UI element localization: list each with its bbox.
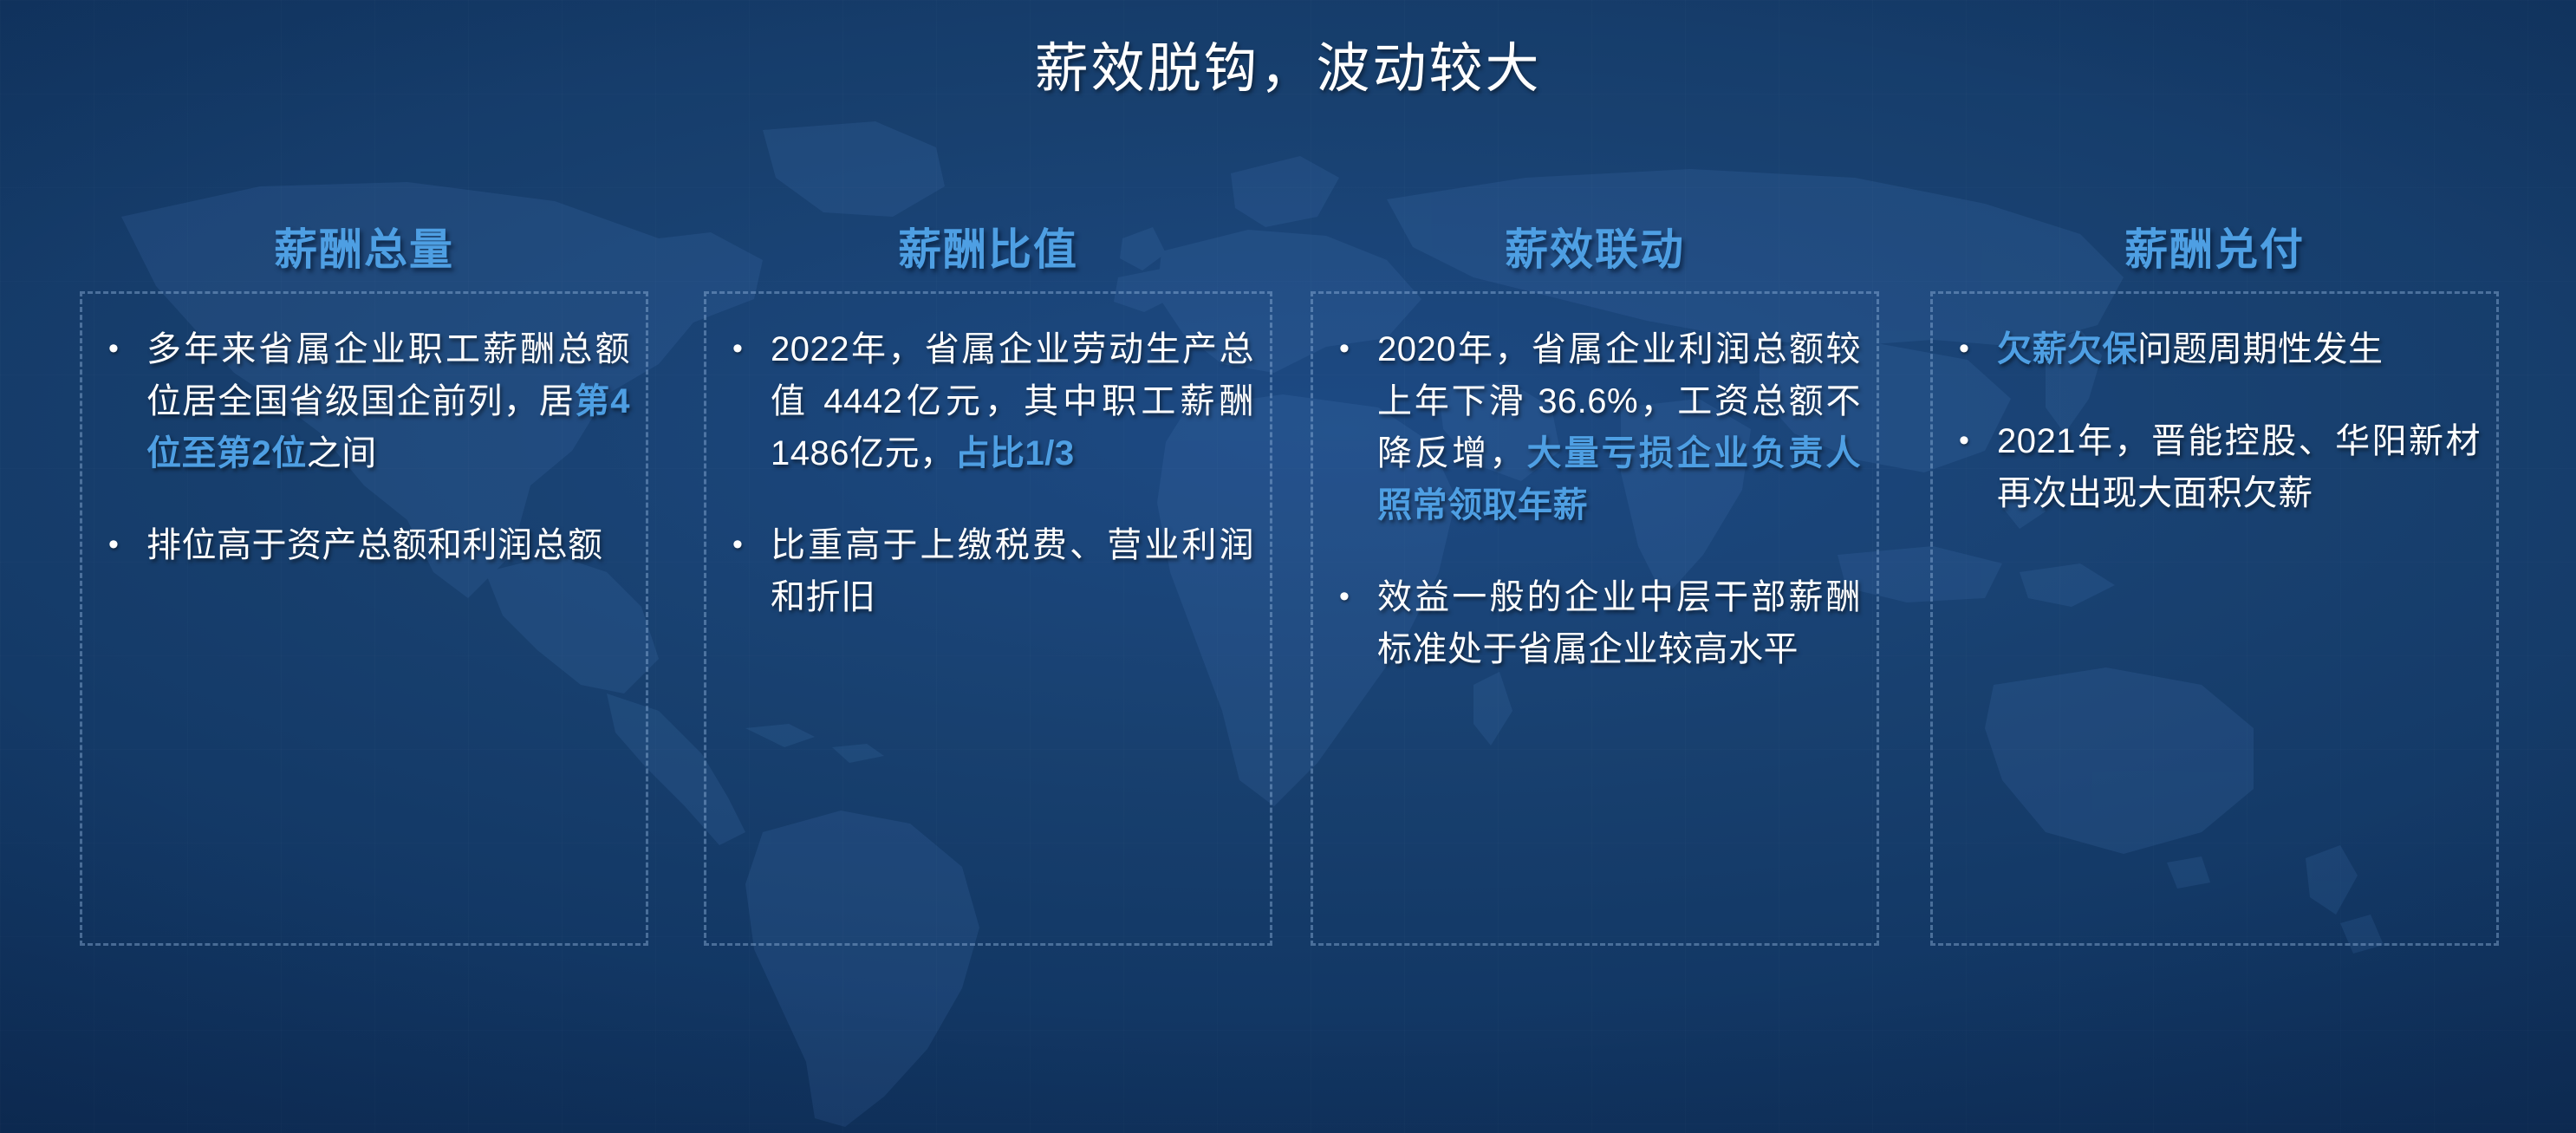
list-item: • 2021年，晋能控股、华阳新材再次出现大面积欠薪: [1952, 415, 2481, 519]
bullet-text: 效益一般的企业中层干部薪酬标准处于省属企业较高水平: [1377, 571, 1861, 675]
bullet-text: 排位高于资产总额和利润总额: [146, 519, 630, 571]
page-title: 薪效脱钩，波动较大: [0, 24, 2576, 102]
list-item: • 排位高于资产总额和利润总额: [101, 519, 630, 571]
column-content-box: • 欠薪欠保问题周期性发生 • 2021年，晋能控股、华阳新材再次出现大面积欠薪: [1930, 291, 2499, 946]
plain-text: 排位高于资产总额和利润总额: [146, 526, 603, 564]
highlighted-text: 占比1/3: [954, 434, 1074, 472]
column-heading: 薪酬总量: [52, 208, 676, 291]
list-item: • 2022年，省属企业劳动生产总值 4442亿元，其中职工薪酬1486亿元，占…: [725, 323, 1254, 479]
bullet-text: 2020年，省属企业利润总额较上年下滑 36.6%，工资总额不降反增，大量亏损企…: [1377, 323, 1861, 531]
column-salary-total: 薪酬总量 • 多年来省属企业职工薪酬总额位居全国省级国企前列，居第4位至第2位之…: [52, 208, 676, 946]
bullet-text: 2021年，晋能控股、华阳新材再次出现大面积欠薪: [1997, 415, 2481, 519]
bullet-text: 欠薪欠保问题周期性发生: [1997, 323, 2481, 375]
bullet-dot-icon: •: [1332, 571, 1377, 622]
list-item: • 比重高于上缴税费、营业利润和折旧: [725, 519, 1254, 623]
column-salary-ratio: 薪酬比值 • 2022年，省属企业劳动生产总值 4442亿元，其中职工薪酬148…: [676, 208, 1300, 946]
column-heading: 薪酬兑付: [1903, 208, 2527, 291]
bullet-dot-icon: •: [101, 323, 146, 374]
bullet-dot-icon: •: [725, 323, 771, 374]
plain-text: 多年来省属企业职工薪酬总额位居全国省级国企前列，居: [146, 330, 630, 420]
highlighted-text: 欠薪欠保: [1997, 330, 2137, 368]
plain-text: 比重高于上缴税费、营业利润和折旧: [771, 526, 1254, 616]
bullet-text: 多年来省属企业职工薪酬总额位居全国省级国企前列，居第4位至第2位之间: [146, 323, 630, 479]
list-item: • 2020年，省属企业利润总额较上年下滑 36.6%，工资总额不降反增，大量亏…: [1332, 323, 1861, 531]
plain-text: 2021年，晋能控股、华阳新材再次出现大面积欠薪: [1997, 422, 2481, 512]
column-heading: 薪效联动: [1283, 208, 1907, 291]
list-item: • 效益一般的企业中层干部薪酬标准处于省属企业较高水平: [1332, 571, 1861, 675]
bullet-dot-icon: •: [725, 519, 771, 570]
column-content-box: • 2022年，省属企业劳动生产总值 4442亿元，其中职工薪酬1486亿元，占…: [704, 291, 1272, 946]
bullet-dot-icon: •: [1332, 323, 1377, 374]
column-heading: 薪酬比值: [676, 208, 1300, 291]
column-content-box: • 多年来省属企业职工薪酬总额位居全国省级国企前列，居第4位至第2位之间 • 排…: [80, 291, 648, 946]
column-pay-performance-link: 薪效联动 • 2020年，省属企业利润总额较上年下滑 36.6%，工资总额不降反…: [1283, 208, 1907, 946]
bullet-text: 比重高于上缴税费、营业利润和折旧: [771, 519, 1254, 623]
plain-text: 问题周期性发生: [2137, 330, 2384, 368]
list-item: • 欠薪欠保问题周期性发生: [1952, 323, 2481, 375]
plain-text: 效益一般的企业中层干部薪酬标准处于省属企业较高水平: [1377, 578, 1861, 668]
plain-text: 之间: [307, 434, 377, 472]
bullet-dot-icon: •: [1952, 415, 1997, 466]
bullet-dot-icon: •: [101, 519, 146, 570]
list-item: • 多年来省属企业职工薪酬总额位居全国省级国企前列，居第4位至第2位之间: [101, 323, 630, 479]
bullet-text: 2022年，省属企业劳动生产总值 4442亿元，其中职工薪酬1486亿元，占比1…: [771, 323, 1254, 479]
column-salary-payment: 薪酬兑付 • 欠薪欠保问题周期性发生 • 2021年，晋能控股、华阳新材再次出现…: [1903, 208, 2527, 946]
slide-root: 薪效脱钩，波动较大 薪酬总量 • 多年来省属企业职工薪酬总额位居全国省级国企前列…: [0, 0, 2576, 1133]
bullet-dot-icon: •: [1952, 323, 1997, 374]
column-content-box: • 2020年，省属企业利润总额较上年下滑 36.6%，工资总额不降反增，大量亏…: [1311, 291, 1879, 946]
